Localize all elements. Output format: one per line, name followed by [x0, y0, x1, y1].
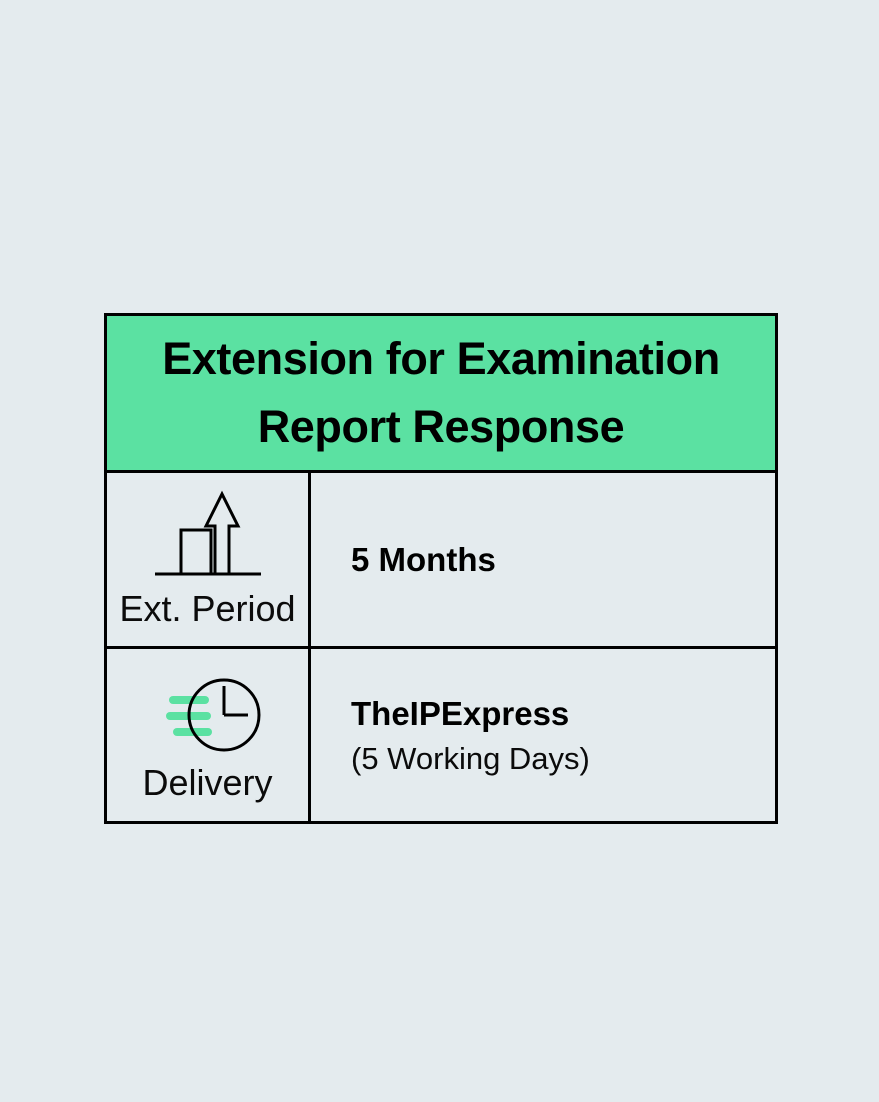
extension-info-card: Extension for Examination Report Respons…: [104, 313, 778, 824]
row-value-primary: TheIPExpress: [351, 693, 775, 734]
row-value-cell-delivery: TheIPExpress (5 Working Days): [311, 649, 775, 822]
row-label-cell-ext-period: Ext. Period: [107, 473, 311, 646]
row-label-text: Ext. Period: [119, 590, 295, 628]
row-value-cell-ext-period: 5 Months: [311, 473, 775, 646]
row-value-primary: 5 Months: [351, 539, 775, 580]
row-label-text: Delivery: [142, 764, 272, 802]
fast-clock-delivery-icon: [148, 664, 268, 756]
table-row: Ext. Period 5 Months: [107, 473, 775, 649]
card-title: Extension for Examination Report Respons…: [121, 325, 761, 462]
row-value-secondary: (5 Working Days): [351, 740, 775, 777]
table-row: Delivery TheIPExpress (5 Working Days): [107, 649, 775, 822]
row-label-cell-delivery: Delivery: [107, 649, 311, 822]
card-header: Extension for Examination Report Respons…: [107, 316, 775, 473]
growth-bar-arrow-icon: [148, 486, 268, 582]
